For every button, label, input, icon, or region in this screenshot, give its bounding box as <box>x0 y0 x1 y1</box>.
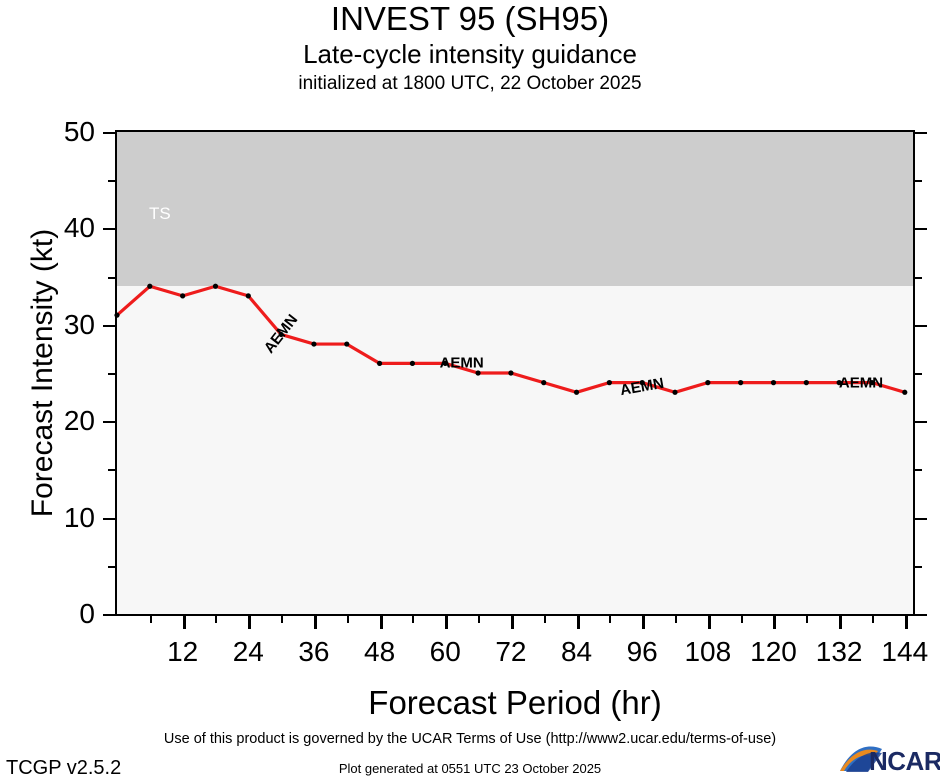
data-point <box>804 380 809 385</box>
x-tick-minor <box>544 614 546 623</box>
x-tick-minor <box>609 614 611 623</box>
data-point <box>377 361 382 366</box>
ncar-logo-text: NCAR <box>869 746 940 777</box>
data-point <box>771 380 776 385</box>
x-tick-minor <box>281 614 283 623</box>
chart-initialization-time: initialized at 1800 UTC, 22 October 2025 <box>0 73 940 95</box>
y-tick-right-minor <box>913 566 922 568</box>
y-tick <box>103 228 117 230</box>
x-tick-minor <box>741 614 743 623</box>
x-tick-minor <box>347 614 349 623</box>
y-tick-right <box>913 228 927 230</box>
x-tick-label: 48 <box>364 636 395 668</box>
x-tick-label: 60 <box>430 636 461 668</box>
y-tick-label: 50 <box>64 116 95 148</box>
x-tick <box>642 614 645 629</box>
terms-of-use-text: Use of this product is governed by the U… <box>0 731 940 747</box>
y-tick-label: 40 <box>64 212 95 244</box>
x-tick <box>248 614 251 629</box>
data-point <box>574 390 579 395</box>
series-label-aemn: AEMN <box>839 374 883 391</box>
y-tick-label: 30 <box>64 309 95 341</box>
page-title: INVEST 95 (SH95) <box>0 1 940 37</box>
x-tick-label: 132 <box>816 636 863 668</box>
y-tick <box>103 132 117 134</box>
chart-subtitle: Late-cycle intensity guidance <box>0 39 940 69</box>
data-point <box>672 390 677 395</box>
x-tick-minor <box>675 614 677 623</box>
x-tick-label: 72 <box>495 636 526 668</box>
y-tick <box>103 518 117 520</box>
x-tick <box>839 614 842 629</box>
x-tick-minor <box>872 614 874 623</box>
y-tick <box>103 421 117 423</box>
x-tick <box>445 614 448 629</box>
y-tick-label: 10 <box>64 502 95 534</box>
y-tick-minor <box>108 373 117 375</box>
y-tick-right <box>913 614 927 616</box>
data-point <box>344 341 349 346</box>
x-tick <box>708 614 711 629</box>
y-tick-label: 0 <box>79 598 95 630</box>
data-point <box>311 341 316 346</box>
x-tick <box>511 614 514 629</box>
series-line-aemn <box>117 286 905 392</box>
x-tick <box>380 614 383 629</box>
title-block: INVEST 95 (SH95) Late-cycle intensity gu… <box>0 0 940 95</box>
x-tick <box>314 614 317 629</box>
y-tick-label: 20 <box>64 405 95 437</box>
data-point <box>508 370 513 375</box>
y-tick-right <box>913 132 927 134</box>
y-tick-right-minor <box>913 373 922 375</box>
y-tick-right-minor <box>913 469 922 471</box>
x-tick <box>183 614 186 629</box>
data-point <box>213 284 218 289</box>
x-tick-label: 36 <box>298 636 329 668</box>
y-tick-right <box>913 518 927 520</box>
y-tick-right-minor <box>913 277 922 279</box>
data-point <box>541 380 546 385</box>
y-tick-right-minor <box>913 180 922 182</box>
y-tick-minor <box>108 469 117 471</box>
y-tick <box>103 614 117 616</box>
y-axis-title: Forecast Intensity (kt) <box>26 130 62 616</box>
x-tick-minor <box>478 614 480 623</box>
data-point <box>246 293 251 298</box>
y-tick-minor <box>108 180 117 182</box>
x-axis-title: Forecast Period (hr) <box>115 684 915 722</box>
x-tick-minor <box>412 614 414 623</box>
x-tick-minor <box>215 614 217 623</box>
data-point <box>180 293 185 298</box>
data-point <box>705 380 710 385</box>
x-tick-minor <box>806 614 808 623</box>
generated-timestamp: Plot generated at 0551 UTC 23 October 20… <box>0 761 940 776</box>
x-tick-label: 144 <box>881 636 928 668</box>
x-tick-label: 96 <box>627 636 658 668</box>
y-tick-minor <box>108 566 117 568</box>
x-tick-label: 24 <box>233 636 264 668</box>
plot-area: TS 0102030405012243648607284961081201321… <box>115 130 915 616</box>
data-point <box>114 313 119 318</box>
x-tick-label: 108 <box>684 636 731 668</box>
data-point <box>147 284 152 289</box>
data-point <box>410 361 415 366</box>
data-point <box>738 380 743 385</box>
x-tick-minor <box>150 614 152 623</box>
data-point <box>607 380 612 385</box>
series-label-aemn: AEMN <box>440 355 484 372</box>
y-tick-right <box>913 325 927 327</box>
x-tick-label: 12 <box>167 636 198 668</box>
y-tick <box>103 325 117 327</box>
x-tick-label: 84 <box>561 636 592 668</box>
x-tick <box>773 614 776 629</box>
y-tick-minor <box>108 277 117 279</box>
data-series-layer <box>117 132 913 614</box>
x-tick <box>905 614 908 629</box>
data-point <box>902 390 907 395</box>
x-tick <box>577 614 580 629</box>
x-tick-label: 120 <box>750 636 797 668</box>
y-tick-right <box>913 421 927 423</box>
